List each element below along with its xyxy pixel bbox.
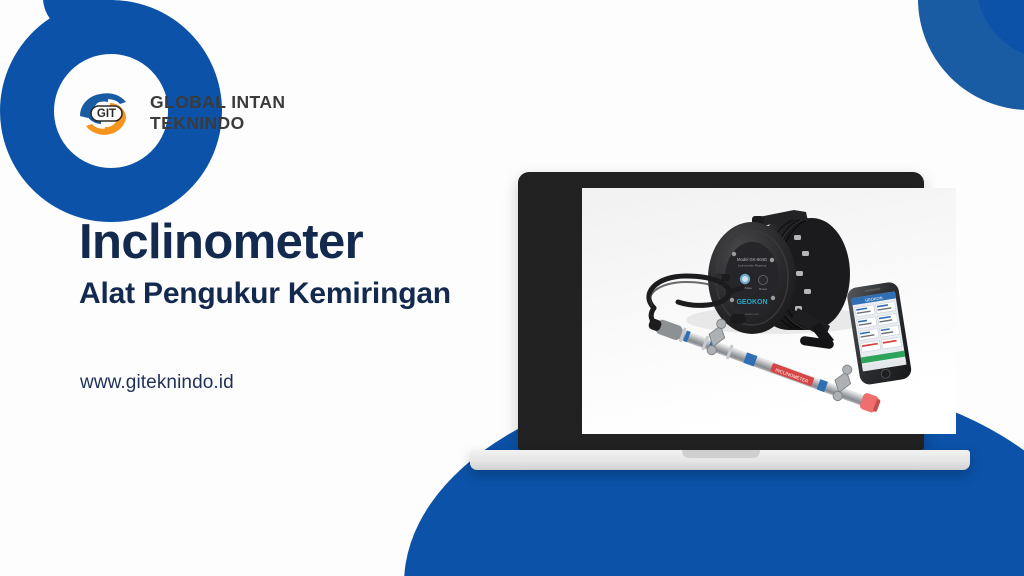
- laptop-notch: [682, 450, 760, 458]
- brand-logo[interactable]: GIT GLOBAL INTAN TEKNINDO: [74, 82, 285, 144]
- svg-text:Reset: Reset: [759, 287, 767, 291]
- headline-group: Inclinometer Alat Pengukur Kemiringan: [79, 218, 451, 309]
- svg-text:GIT: GIT: [97, 108, 116, 120]
- svg-text:Inclinometer Readout: Inclinometer Readout: [738, 263, 767, 267]
- laptop-screen: Model GK-604D Inclinometer Readout Power…: [582, 188, 956, 434]
- page-title: Inclinometer: [79, 218, 451, 267]
- inclinometer-product-photo: Model GK-604D Inclinometer Readout Power…: [582, 188, 956, 434]
- svg-text:geokon.com: geokon.com: [745, 312, 759, 316]
- website-link[interactable]: www.giteknindo.id: [80, 372, 234, 394]
- laptop-mockup: Model GK-604D Inclinometer Readout Power…: [470, 172, 970, 472]
- git-swirl-logo-icon: GIT: [74, 82, 140, 144]
- laptop-lid: Model GK-604D Inclinometer Readout Power…: [518, 172, 924, 450]
- page-subtitle: Alat Pengukur Kemiringan: [79, 279, 451, 309]
- reel-brand-text: GEOKON: [736, 299, 767, 306]
- brand-name: GLOBAL INTAN TEKNINDO: [150, 92, 285, 135]
- promo-banner: GIT GLOBAL INTAN TEKNINDO Inclinometer A…: [0, 0, 1024, 576]
- svg-text:Model GK-604D: Model GK-604D: [737, 257, 767, 262]
